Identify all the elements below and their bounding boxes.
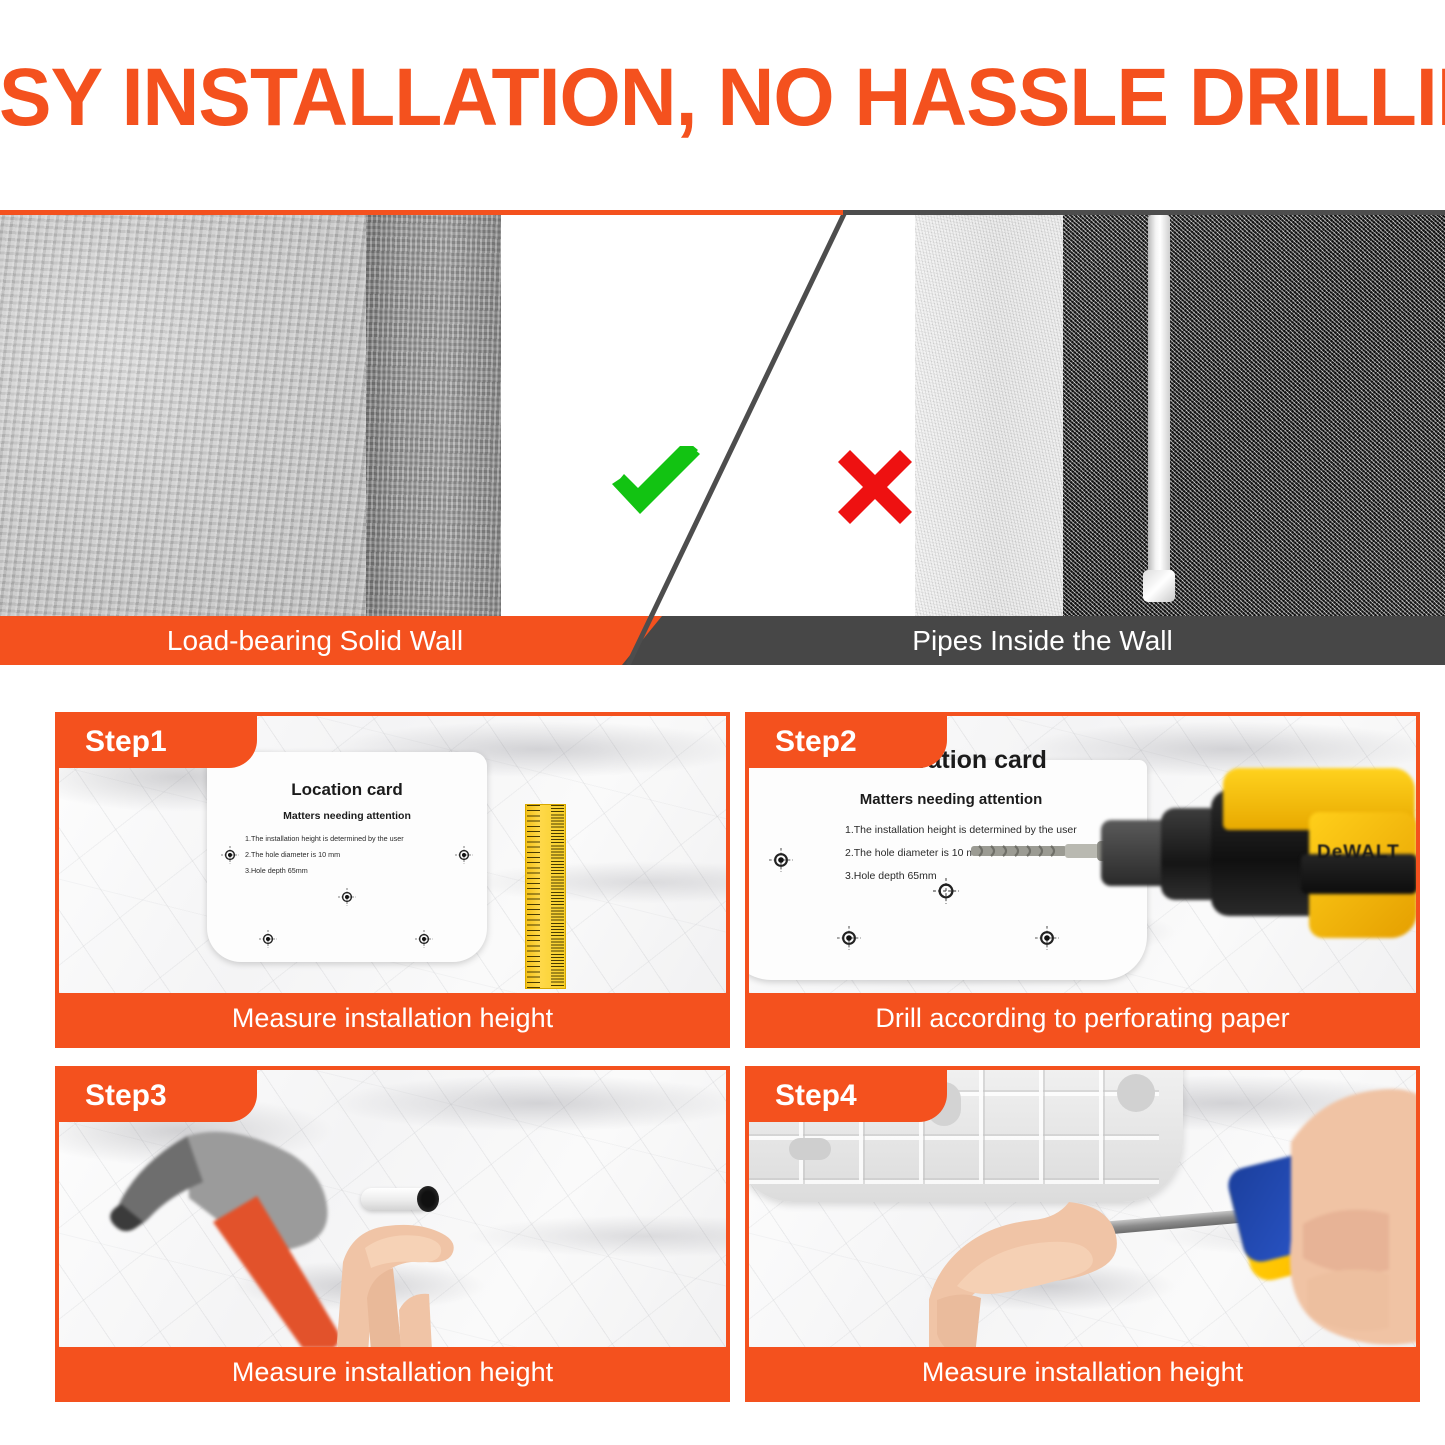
page-title: EASY INSTALLATION, NO HASSLE DRILLING [0, 51, 1445, 145]
step-tab-4: Step4 [749, 1070, 947, 1122]
step-caption-1: Measure installation height [59, 993, 726, 1044]
hole-target-drill-point [933, 878, 959, 904]
wall-type-banner: Load-bearing Solid Wall Pipes Inside the… [0, 616, 1445, 665]
hole-target-bottom-right [415, 930, 433, 948]
step-caption-3: Measure installation height [59, 1347, 726, 1398]
headline-bar: EASY INSTALLATION, NO HASSLE DRILLING [0, 0, 1445, 196]
step-tab-1-label: Step1 [85, 725, 167, 759]
hole-target-bottom-left [837, 926, 861, 950]
check-mark-icon [608, 446, 704, 524]
hand-on-bracket-icon [929, 1190, 1149, 1347]
location-card-line-2: 2.The hole diameter is 10 mm [245, 850, 487, 859]
steps-grid: Location card Matters needing attention … [55, 712, 1391, 1402]
bracket-slot-left [789, 1138, 831, 1160]
hole-target-center [338, 888, 356, 906]
step-tab-3: Step3 [59, 1070, 257, 1122]
label-pipes-inside-the-wall: Pipes Inside the Wall [640, 616, 1445, 665]
hole-target-bottom-right [1035, 926, 1059, 950]
step-tab-1: Step1 [59, 716, 257, 768]
drill-bit-icon [971, 838, 1121, 864]
step-tab-4-label: Step4 [775, 1079, 857, 1113]
location-card-line-1: 1.The installation height is determined … [245, 834, 487, 843]
band-top-rule-orange [0, 210, 846, 215]
band-top-rule-dark [843, 210, 1445, 215]
solid-wall-photo-dark [366, 215, 501, 619]
step-tab-2: Step2 [749, 716, 947, 768]
step-tab-3-label: Step3 [85, 1079, 167, 1113]
step-panel-2: Location card Matters needing attention … [745, 712, 1420, 1048]
cross-mark-icon [836, 448, 914, 526]
hole-target-right [455, 846, 473, 864]
location-card-title: Location card [207, 780, 487, 800]
step-tab-2-label: Step2 [775, 725, 857, 759]
solid-wall-photo-light [0, 215, 366, 619]
location-card-1: Location card Matters needing attention … [207, 752, 487, 962]
white-gap [501, 215, 915, 619]
step-panel-4: Step4 Measure installation height [745, 1066, 1420, 1402]
location-card-line-3: 3.Hole depth 65mm [245, 866, 487, 875]
step-caption-2-text: Drill according to perforating paper [875, 1003, 1289, 1034]
stucco-wall-photo-dark [1063, 215, 1445, 619]
hand-icon [307, 1170, 527, 1347]
label-load-bearing-solid-wall-text: Load-bearing Solid Wall [167, 625, 463, 657]
step-caption-4: Measure installation height [749, 1347, 1416, 1398]
wall-pipe-vertical [1148, 215, 1170, 576]
step-caption-3-text: Measure installation height [232, 1357, 553, 1388]
bracket-slot-right [1117, 1074, 1155, 1112]
step-caption-1-text: Measure installation height [232, 1003, 553, 1034]
wall-comparison-band [0, 210, 1445, 665]
hand-holding-screwdriver-icon [1247, 1084, 1416, 1347]
hole-target-left [221, 846, 239, 864]
wall-pipe-elbow [1143, 570, 1175, 602]
step-panel-3: Step3 Measure installation height [55, 1066, 730, 1402]
step-caption-4-text: Measure installation height [922, 1357, 1243, 1388]
drill-brand-label: DeWALT [1317, 842, 1416, 864]
label-load-bearing-solid-wall: Load-bearing Solid Wall [0, 616, 630, 665]
location-card-subtitle: Matters needing attention [207, 810, 487, 822]
step-caption-2: Drill according to perforating paper [749, 993, 1416, 1044]
label-pipes-inside-the-wall-text: Pipes Inside the Wall [912, 625, 1172, 657]
stucco-wall-photo-light [915, 215, 1063, 619]
step-panel-1: Location card Matters needing attention … [55, 712, 730, 1048]
location-card-subtitle: Matters needing attention [749, 791, 1147, 808]
hole-target-bottom-left [259, 930, 277, 948]
ruler [525, 804, 566, 989]
hole-target-left [769, 848, 793, 872]
location-card-2: Location card Matters needing attention … [749, 760, 1147, 980]
